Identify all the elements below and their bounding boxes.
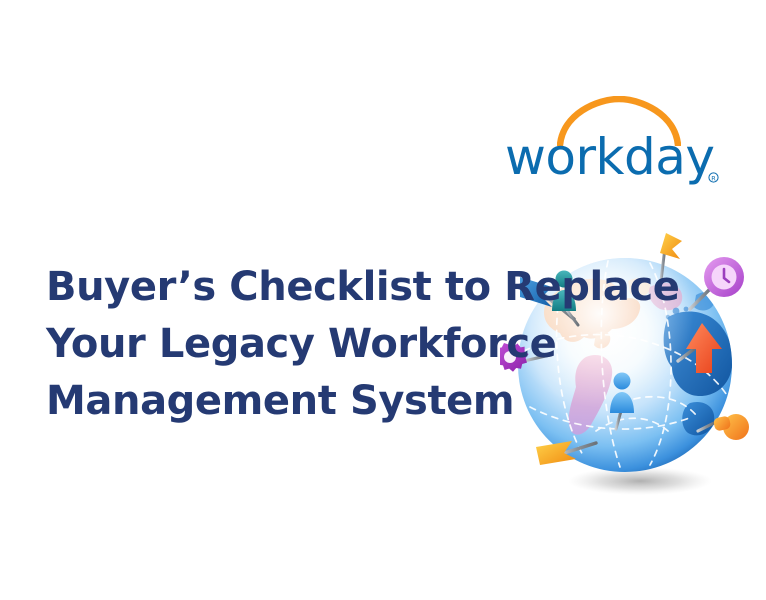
page-title: Buyer’s Checklist to Replace Your Legacy… [46,259,646,430]
svg-text:R: R [711,174,716,182]
pin-clock-purple-icon [690,257,744,309]
page-title-line-1: Buyer’s Checklist to Replace [46,259,646,316]
cover-page: workday R Buyer’s Checklist to Replace Y… [0,0,766,600]
workday-wordmark-text: workday [505,130,714,186]
page-title-line-2: Your Legacy Workforce [46,316,646,373]
registered-trademark-icon: R [708,172,719,183]
workday-logo: workday R [505,96,720,191]
globe-shadow [568,467,712,495]
page-title-line-3: Management System [46,373,646,430]
workday-wordmark: workday [505,130,720,186]
